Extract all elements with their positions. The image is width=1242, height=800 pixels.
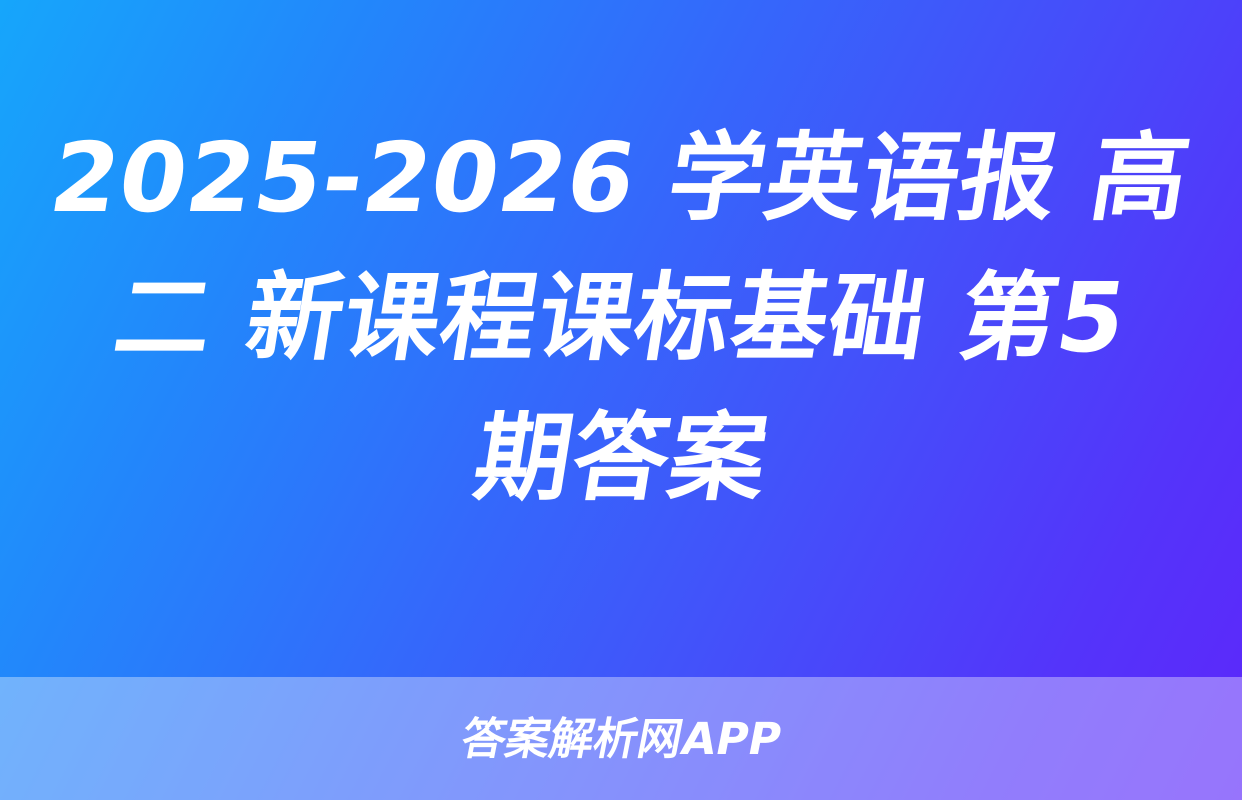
title-line-1: 2025-2026 学英语报 高: [41, 108, 1200, 248]
title-line-2: 二 新课程课标基础 第5: [105, 248, 1137, 388]
title-line-3: 期答案: [464, 388, 777, 528]
promo-card: 2025-2026 学英语报 高 二 新课程课标基础 第5 期答案 答案解析网A…: [0, 0, 1242, 800]
footer-brand-label: 答案解析网APP: [457, 718, 784, 762]
title-block: 2025-2026 学英语报 高 二 新课程课标基础 第5 期答案: [0, 0, 1242, 677]
footer-brand-band: 答案解析网APP: [0, 677, 1242, 800]
